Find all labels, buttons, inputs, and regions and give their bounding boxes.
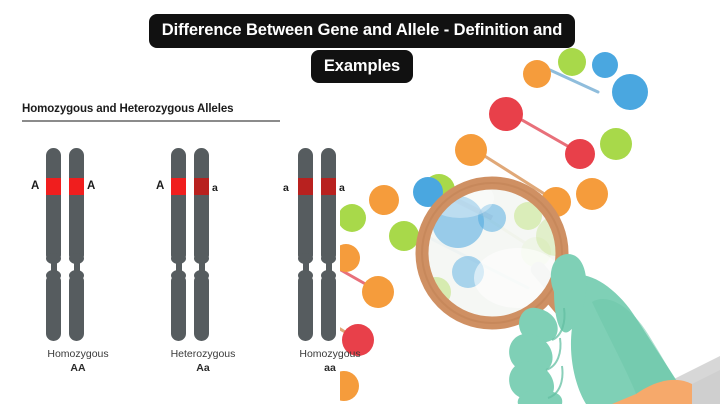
pair-caption-genotype: AA — [18, 361, 138, 375]
pair-caption-type: Heterozygous — [171, 348, 236, 360]
chromosome-right — [194, 148, 209, 341]
pair-caption-genotype: aa — [270, 361, 390, 375]
chromosome-arm-upper — [171, 148, 186, 260]
title-line-2: Examples — [311, 50, 413, 84]
allele-band-right — [321, 178, 336, 195]
chromosome-arm-upper — [69, 148, 84, 260]
chromosome-arm-lower — [46, 276, 61, 341]
allele-band-left — [298, 178, 313, 195]
allele-band-right — [194, 178, 209, 195]
chromosome-arm-lower — [321, 276, 336, 341]
section-heading-underline — [22, 120, 280, 122]
dna-magnifier-illustration — [340, 40, 720, 404]
chromosome-pair: A a — [143, 148, 263, 341]
pair-caption: Heterozygous Aa — [143, 347, 263, 375]
chromosome-right — [321, 148, 336, 341]
allele-label-left: A — [31, 179, 39, 194]
pair-caption-type: Homozygous — [299, 348, 360, 360]
chromosome-right — [69, 148, 84, 341]
allele-band-right — [69, 178, 84, 195]
chromosome-pair-group-homozygous-recessive: a a Homozygous aa — [270, 148, 390, 341]
chromosome-arm-lower — [69, 276, 84, 341]
section-heading: Homozygous and Heterozygous Alleles — [22, 103, 284, 122]
chromosome-arm-upper — [46, 148, 61, 260]
pair-caption: Homozygous AA — [18, 347, 138, 375]
chromosome-pair: A A — [18, 148, 138, 341]
allele-label-left: a — [283, 181, 289, 196]
section-heading-label: Homozygous and Heterozygous Alleles — [22, 103, 284, 115]
allele-label-right: a — [339, 181, 345, 196]
pair-caption: Homozygous aa — [270, 347, 390, 375]
chromosome-arm-lower — [194, 276, 209, 341]
chromosome-pair-group-homozygous-dominant: A A Homozygous AA — [18, 148, 138, 341]
chromosome-left — [171, 148, 186, 341]
infographic-canvas: Difference Between Gene and Allele - Def… — [0, 0, 720, 404]
allele-label-right: A — [87, 179, 95, 194]
chromosome-pair-group-heterozygous: A a Heterozygous Aa — [143, 148, 263, 341]
allele-label-left: A — [156, 179, 164, 194]
chromosome-arm-lower — [298, 276, 313, 341]
title-line-1: Difference Between Gene and Allele - Def… — [149, 14, 575, 48]
chromosome-arm-upper — [194, 148, 209, 260]
allele-label-right: a — [212, 181, 218, 196]
allele-band-left — [171, 178, 186, 195]
pair-caption-genotype: Aa — [143, 361, 263, 375]
chromosome-left — [298, 148, 313, 341]
chromosome-arm-upper — [321, 148, 336, 260]
allele-band-left — [46, 178, 61, 195]
chromosome-arm-upper — [298, 148, 313, 260]
chromosome-pair: a a — [270, 148, 390, 341]
pair-caption-type: Homozygous — [47, 348, 108, 360]
chromosome-arm-lower — [171, 276, 186, 341]
page-title: Difference Between Gene and Allele - Def… — [0, 14, 720, 83]
chromosome-left — [46, 148, 61, 341]
